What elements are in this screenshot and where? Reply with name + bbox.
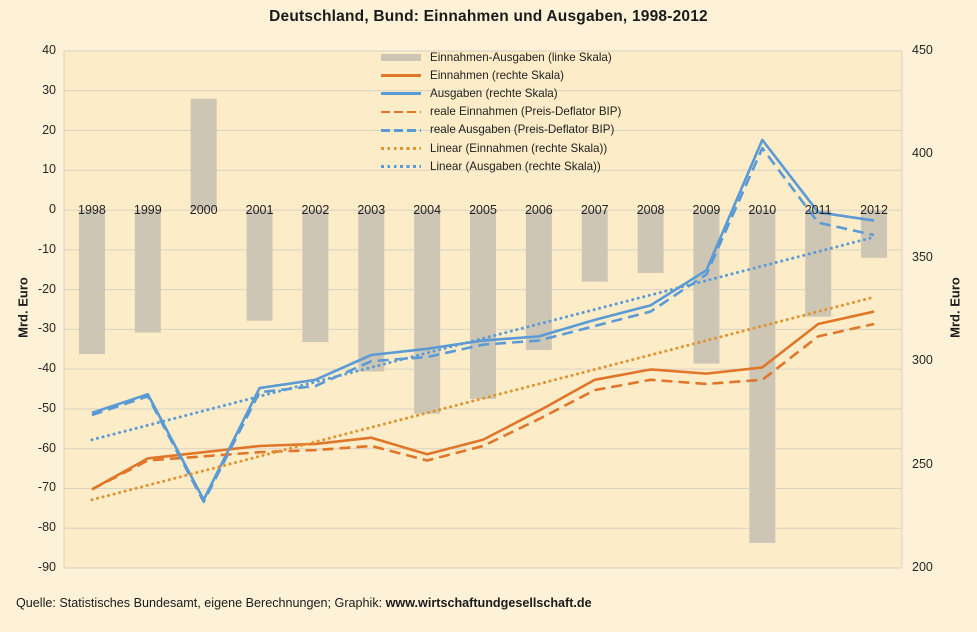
legend-swatch-icon: [380, 86, 422, 100]
legend-label: Ausgaben (rechte Skala): [430, 87, 558, 100]
x-axis-tick-label: 2009: [678, 203, 734, 217]
x-axis-tick-label: 2006: [511, 203, 567, 217]
legend-swatch-icon: [380, 141, 422, 155]
left-axis-tick: 40: [16, 43, 56, 57]
x-axis-tick-label: 1999: [120, 203, 176, 217]
x-axis-tick-label: 2007: [567, 203, 623, 217]
bar: [79, 210, 105, 354]
bar: [302, 210, 328, 342]
bar: [526, 210, 552, 350]
left-axis-tick: 20: [16, 123, 56, 137]
legend-label: reale Ausgaben (Preis-Deflator BIP): [430, 123, 614, 136]
x-axis-tick-label: 2001: [232, 203, 288, 217]
right-axis-tick: 200: [912, 560, 958, 574]
legend-swatch-icon: [380, 50, 422, 64]
x-axis-tick-label: 2010: [734, 203, 790, 217]
left-axis-tick: -40: [16, 361, 56, 375]
bar: [638, 210, 664, 273]
chart-container: Deutschland, Bund: Einnahmen und Ausgabe…: [0, 0, 977, 632]
bar: [470, 210, 496, 399]
x-axis-tick-label: 2002: [287, 203, 343, 217]
bar: [805, 210, 831, 317]
x-axis-tick-label: 2012: [846, 203, 902, 217]
legend-label: Einnahmen-Ausgaben (linke Skala): [430, 51, 612, 64]
left-axis-tick: -80: [16, 520, 56, 534]
x-axis-tick-label: 2000: [176, 203, 232, 217]
left-axis-tick: 10: [16, 162, 56, 176]
bar: [191, 99, 217, 210]
x-axis-tick-label: 2004: [399, 203, 455, 217]
left-axis-tick: -50: [16, 401, 56, 415]
x-axis-tick-label: 2003: [343, 203, 399, 217]
source-text: Quelle: Statistisches Bundesamt, eigene …: [16, 596, 386, 610]
left-axis-tick: -90: [16, 560, 56, 574]
legend-label: Linear (Einnahmen (rechte Skala)): [430, 142, 607, 155]
legend-label: Einnahmen (rechte Skala): [430, 69, 564, 82]
bar: [693, 210, 719, 364]
bar: [135, 210, 161, 332]
source-website: www.wirtschaftundgesellschaft.de: [386, 596, 592, 610]
x-axis-tick-label: 1998: [64, 203, 120, 217]
legend-label: Linear (Ausgaben (rechte Skala)): [430, 160, 601, 173]
legend-swatch-icon: [380, 123, 422, 137]
left-axis-tick: 30: [16, 83, 56, 97]
legend-swatch-icon: [380, 159, 422, 173]
legend-item: Linear (Einnahmen (rechte Skala)): [380, 139, 680, 157]
bar: [247, 210, 273, 321]
legend-swatch-icon: [380, 68, 422, 82]
legend-item: reale Einnahmen (Preis-Deflator BIP): [380, 103, 680, 121]
x-axis-tick-label: 2011: [790, 203, 846, 217]
left-axis-tick: -70: [16, 480, 56, 494]
legend-item: Ausgaben (rechte Skala): [380, 84, 680, 102]
left-axis-title: Mrd. Euro: [16, 263, 31, 353]
bar: [358, 210, 384, 371]
legend-item: reale Ausgaben (Preis-Deflator BIP): [380, 121, 680, 139]
x-axis-tick-label: 2008: [623, 203, 679, 217]
left-axis-tick: 0: [16, 202, 56, 216]
source-footer: Quelle: Statistisches Bundesamt, eigene …: [16, 596, 592, 610]
bar: [749, 210, 775, 543]
legend-item: Einnahmen (rechte Skala): [380, 66, 680, 84]
x-axis-tick-label: 2005: [455, 203, 511, 217]
left-axis-tick: -10: [16, 242, 56, 256]
right-axis-tick: 450: [912, 43, 958, 57]
bar: [414, 210, 440, 414]
legend-label: reale Einnahmen (Preis-Deflator BIP): [430, 105, 621, 118]
left-axis-tick: -60: [16, 441, 56, 455]
right-axis-tick: 250: [912, 457, 958, 471]
legend-swatch-icon: [380, 105, 422, 119]
right-axis-tick: 400: [912, 146, 958, 160]
legend-item: Einnahmen-Ausgaben (linke Skala): [380, 48, 680, 66]
bar: [582, 210, 608, 282]
legend-item: Linear (Ausgaben (rechte Skala)): [380, 157, 680, 175]
right-axis-tick: 300: [912, 353, 958, 367]
chart-legend: Einnahmen-Ausgaben (linke Skala)Einnahme…: [380, 48, 680, 175]
right-axis-title: Mrd. Euro: [948, 263, 963, 353]
